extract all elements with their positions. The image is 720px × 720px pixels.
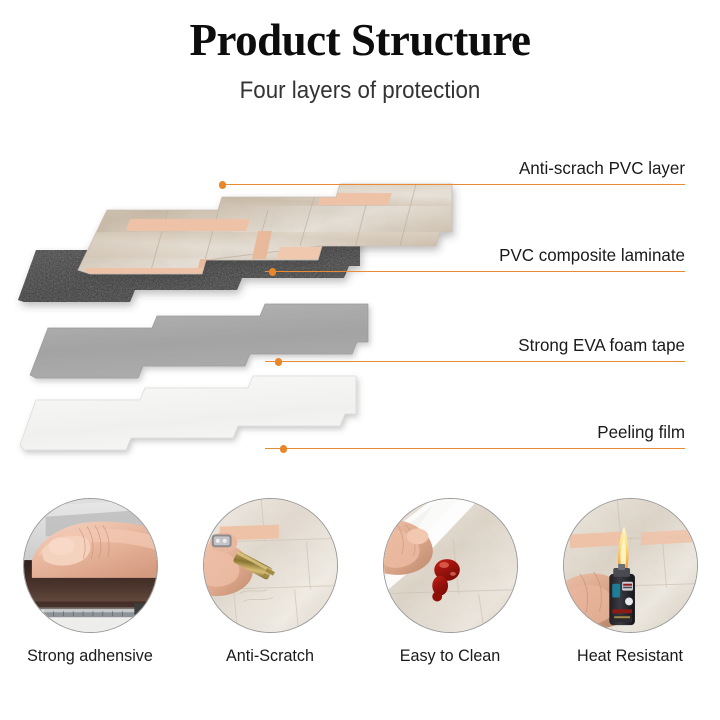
feature-thumbnail-heat-resistant[interactable] [563, 498, 698, 633]
callout-label-eva-foam-tape: Strong EVA foam tape [278, 335, 685, 356]
feature-thumbnail-easy-to-clean[interactable] [383, 498, 518, 633]
page-subtitle: Four layers of protection [25, 63, 695, 105]
feature-row: Strong adhensive [0, 498, 720, 698]
feature-anti-scratch: Anti-Scratch [184, 498, 356, 666]
lighter-flame-icon [564, 499, 697, 632]
connector-line-eva-foam-tape [278, 361, 470, 362]
feature-strong-adhesive: Strong adhensive [4, 498, 176, 666]
connector-line-anti-scratch-pvc [222, 184, 470, 185]
page-title: Product Structure [0, 0, 720, 63]
callout-label-pvc-composite-laminate: PVC composite laminate [278, 245, 685, 266]
connector-dot-pvc-composite-laminate [269, 268, 277, 276]
feature-easy-to-clean: Easy to Clean [364, 498, 536, 666]
feature-heat-resistant: Heat Resistant [544, 498, 716, 666]
callout-label-peeling-film: Peeling film [278, 422, 685, 443]
callout-label-anti-scratch-pvc: Anti-scrach PVC layer [278, 158, 685, 179]
key-scratch-icon [204, 499, 337, 632]
feature-thumbnail-strong-adhesive[interactable] [23, 498, 158, 633]
feature-caption-anti-scratch: Anti-Scratch [188, 646, 351, 666]
feature-caption-strong-adhesive: Strong adhensive [8, 646, 171, 666]
feature-caption-easy-to-clean: Easy to Clean [368, 646, 531, 666]
connector-line-peeling-film [283, 448, 470, 449]
wipe-stain-icon [384, 499, 517, 632]
callout-eva-foam-tape: Strong EVA foam tape [265, 335, 685, 362]
connector-line-pvc-composite-laminate [272, 271, 470, 272]
connector-dot-eva-foam-tape [275, 358, 283, 366]
connector-dot-anti-scratch-pvc [219, 181, 227, 189]
callout-labels: Anti-scrach PVC layer PVC composite lami… [0, 100, 720, 480]
feature-caption-heat-resistant: Heat Resistant [548, 646, 711, 666]
header: Product Structure Four layers of protect… [0, 0, 720, 105]
product-structure-infographic: Product Structure Four layers of protect… [0, 0, 720, 720]
connector-dot-peeling-film [280, 445, 288, 453]
thumb-press-icon [24, 499, 157, 632]
callout-anti-scratch-pvc: Anti-scrach PVC layer [265, 158, 685, 185]
callout-peeling-film: Peeling film [265, 422, 685, 449]
feature-thumbnail-anti-scratch[interactable] [203, 498, 338, 633]
callout-pvc-composite-laminate: PVC composite laminate [265, 245, 685, 272]
